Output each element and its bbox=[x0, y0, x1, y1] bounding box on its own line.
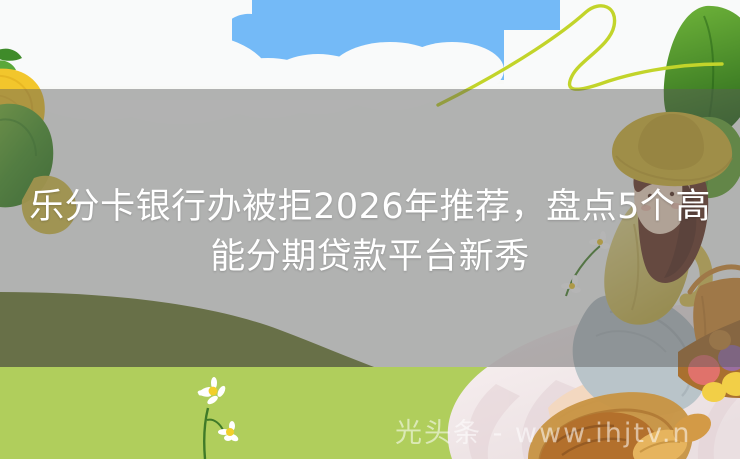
page-title: 乐分卡银行办被拒2026年推荐，盘点5个高能分期贷款平台新秀 bbox=[0, 182, 740, 282]
cover-image: 乐分卡银行办被拒2026年推荐，盘点5个高能分期贷款平台新秀 光头条 - www… bbox=[0, 0, 740, 459]
